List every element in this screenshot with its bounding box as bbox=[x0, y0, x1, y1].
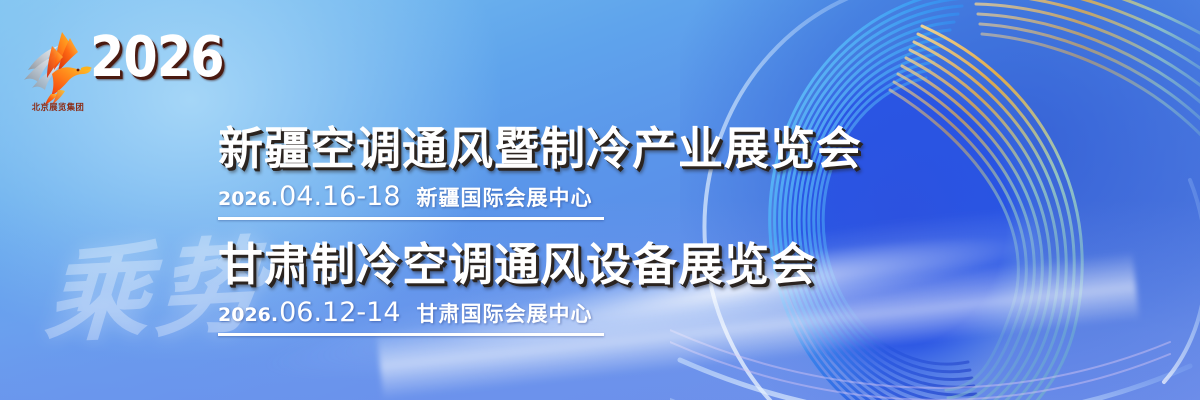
event-venue: 新疆国际会展中心 bbox=[417, 182, 593, 212]
event-date: 04.16-18 bbox=[279, 181, 400, 212]
event-meta-row: 2026. 06.12-14 甘肃国际会展中心 bbox=[218, 297, 878, 328]
logo-caption-text: 北京展览集团 bbox=[23, 101, 93, 113]
meta-underline-rule bbox=[218, 217, 604, 220]
event-meta-row: 2026. 04.16-18 新疆国际会展中心 bbox=[218, 181, 878, 212]
event-block-xinjiang: 新疆空调通风暨制冷产业展览会 2026. 04.16-18 新疆国际会展中心 bbox=[218, 122, 878, 220]
phoenix-icon bbox=[18, 24, 96, 104]
brand-logo-block[interactable]: 北京展览集团 2026 bbox=[18, 24, 218, 124]
event-venue: 甘肃国际会展中心 bbox=[417, 298, 593, 328]
meta-underline-rule bbox=[218, 333, 604, 336]
event-block-gansu: 甘肃制冷空调通风设备展览会 2026. 06.12-14 甘肃国际会展中心 bbox=[218, 238, 878, 336]
event-year: 2026. bbox=[218, 304, 278, 326]
event-title: 新疆空调通风暨制冷产业展览会 bbox=[218, 122, 878, 175]
year-badge: 2026 bbox=[90, 30, 224, 86]
event-title: 甘肃制冷空调通风设备展览会 bbox=[218, 238, 878, 291]
event-year: 2026. bbox=[218, 188, 278, 210]
event-text-stack: 新疆空调通风暨制冷产业展览会 2026. 04.16-18 新疆国际会展中心 甘… bbox=[218, 122, 878, 336]
exhibition-banner: 乘势 bbox=[0, 0, 1200, 400]
event-date: 06.12-14 bbox=[279, 297, 400, 328]
